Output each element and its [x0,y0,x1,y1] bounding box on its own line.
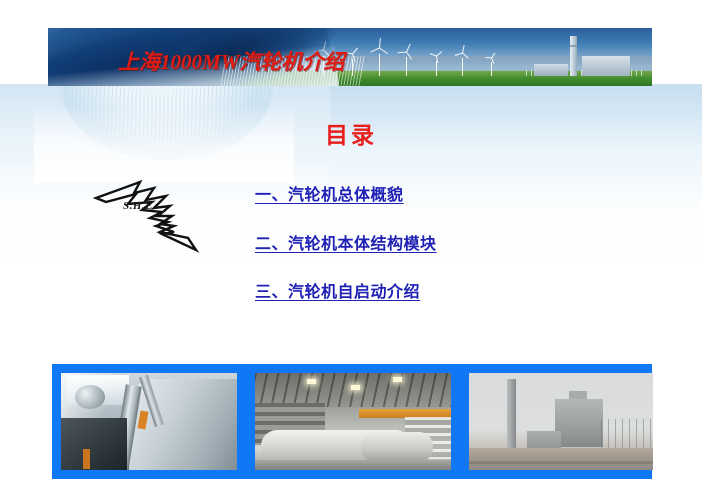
wind-turbine-icon [486,58,496,76]
toc-link-structure-modules[interactable]: 二、汽轮机本体结构模块 [255,230,437,254]
slide-title: 上海1000MW汽轮机介绍 [118,46,344,76]
photo-power-plant [469,373,653,470]
lightning-bolt-svg [88,176,210,258]
lightning-bolt-label: S.H.E [123,200,153,212]
lightning-bolt-icon: S.H.E [88,176,210,258]
toc-link-auto-startup[interactable]: 三、汽轮机自启动介绍 [255,278,420,302]
header-banner: 上海1000MW汽轮机介绍 [48,28,652,86]
table-of-contents-heading: 目录 [0,116,702,150]
wind-turbine-icon [430,56,441,76]
wind-turbine-icon [372,48,386,76]
photo-turbine-auxiliaries [61,373,237,470]
power-plant-illustration [526,36,646,76]
toc-link-overview[interactable]: 一、汽轮机总体概貌 [255,181,404,205]
wind-turbine-icon [400,52,412,76]
slide-canvas: 上海1000MW汽轮机介绍 目录 S.H.E 一、汽轮机总体概貌 二、汽轮机本体… [0,0,702,496]
photo-turbine-hall [255,373,451,470]
photo-strip [52,364,652,479]
wind-turbine-icon [456,53,468,76]
